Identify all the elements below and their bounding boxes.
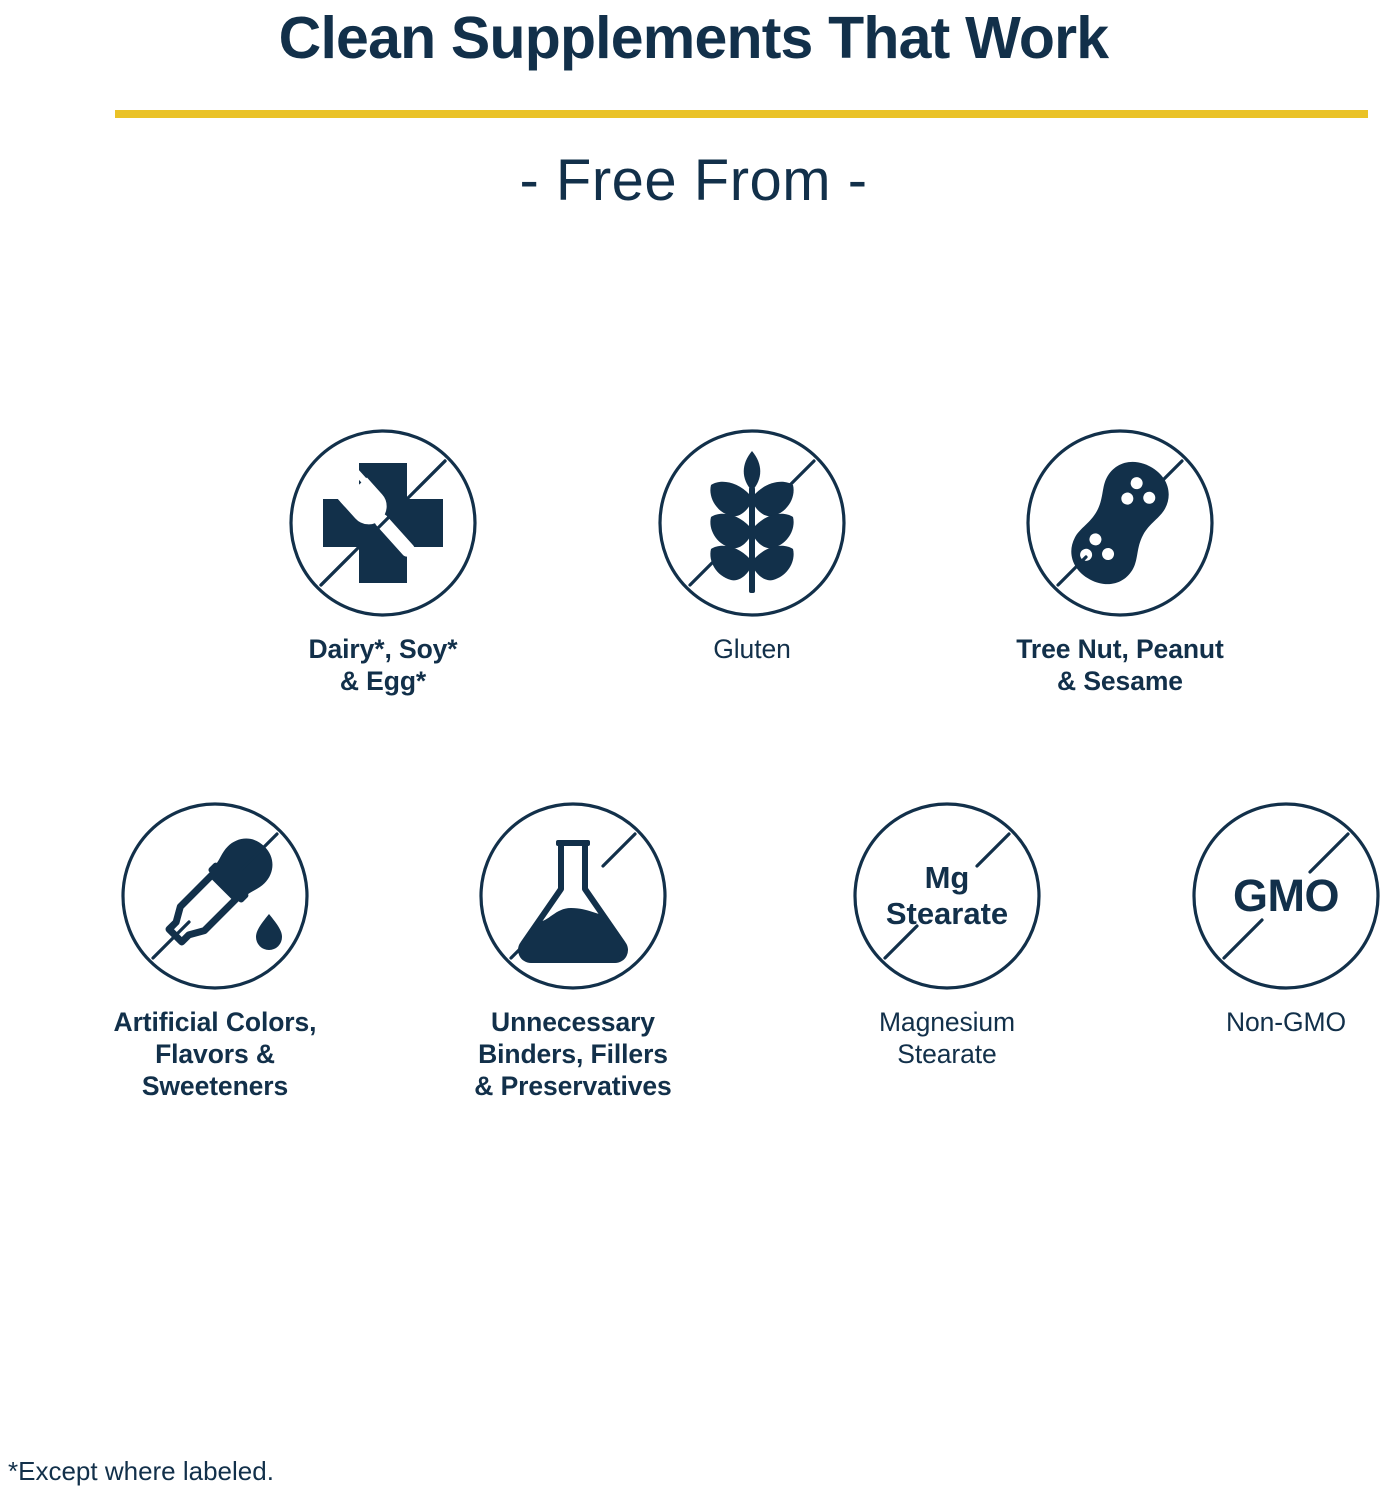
badge-unnecessary-binders-fillers-preservatives: Unnecessary Binders, Fillers & Preservat… bbox=[423, 800, 723, 1102]
badge-label: Dairy*, Soy* & Egg* bbox=[233, 633, 533, 697]
badge-gluten: Gluten bbox=[602, 427, 902, 665]
no-dairy-soy-egg-icon bbox=[233, 427, 533, 619]
badge-label: Unnecessary Binders, Fillers & Preservat… bbox=[423, 1006, 723, 1102]
badge-label: Non-GMO bbox=[1136, 1006, 1387, 1038]
badge-non-gmo: GMO Non-GMO bbox=[1136, 800, 1387, 1038]
title-divider-rule bbox=[115, 110, 1368, 118]
badge-tree-nut-peanut-sesame: Tree Nut, Peanut & Sesame bbox=[970, 427, 1270, 697]
badge-artificial-colors-flavors-sweeteners: Artificial Colors, Flavors & Sweeteners bbox=[65, 800, 365, 1102]
badge-label: Magnesium Stearate bbox=[797, 1006, 1097, 1070]
section-subtitle: - Free From - bbox=[0, 143, 1387, 219]
no-chemical-flask-icon bbox=[423, 800, 723, 992]
badge-magnesium-stearate: Mg Stearate Magnesium Stearate bbox=[797, 800, 1097, 1070]
no-peanut-icon bbox=[970, 427, 1270, 619]
no-gmo-icon: GMO bbox=[1136, 800, 1387, 992]
no-magnesium-stearate-icon: Mg Stearate bbox=[797, 800, 1097, 992]
page-title: Clean Supplements That Work bbox=[0, 2, 1387, 74]
footnote: *Except where labeled. bbox=[8, 1455, 274, 1487]
badge-label: Gluten bbox=[602, 633, 902, 665]
no-artificial-additives-icon bbox=[65, 800, 365, 992]
badge-label: Tree Nut, Peanut & Sesame bbox=[970, 633, 1270, 697]
no-gluten-icon bbox=[602, 427, 902, 619]
badge-label: Artificial Colors, Flavors & Sweeteners bbox=[65, 1006, 365, 1102]
badge-dairy-soy-egg: Dairy*, Soy* & Egg* bbox=[233, 427, 533, 697]
